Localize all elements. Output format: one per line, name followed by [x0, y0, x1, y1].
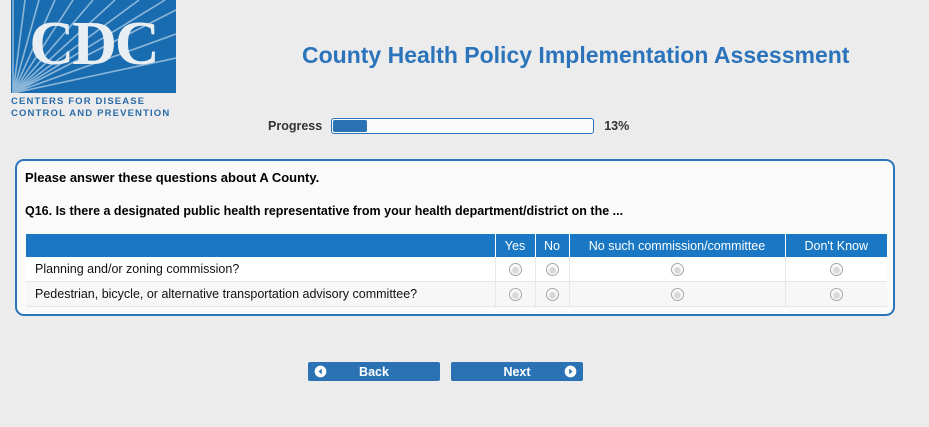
- matrix-cell-no[interactable]: [535, 282, 569, 307]
- question-panel: Please answer these questions about A Co…: [15, 159, 895, 316]
- radio-planning-no[interactable]: [546, 263, 559, 276]
- matrix-cell-yes[interactable]: [495, 282, 535, 307]
- matrix-cell-no-such-commission[interactable]: [569, 257, 785, 282]
- navigation-buttons: Back Next: [308, 362, 583, 381]
- radio-pedestrian-no[interactable]: [546, 288, 559, 301]
- question-prompt: Q16. Is there a designated public health…: [25, 204, 623, 218]
- table-row: Planning and/or zoning commission?: [26, 257, 887, 282]
- cdc-tagline-line-1: CENTERS FOR DISEASE: [11, 96, 176, 108]
- panel-intro-text: Please answer these questions about A Co…: [25, 170, 319, 185]
- matrix-cell-dont-know[interactable]: [785, 282, 887, 307]
- cdc-logo-letters: CDC: [11, 0, 176, 93]
- matrix-header-dont-know: Don't Know: [785, 234, 887, 257]
- radio-planning-dont-know[interactable]: [830, 263, 843, 276]
- progress-percent: 13%: [604, 119, 629, 133]
- matrix-header-no: No: [535, 234, 569, 257]
- cdc-logo: CDC CENTERS FOR DISEASE CONTROL AND PREV…: [11, 0, 176, 120]
- matrix-cell-no[interactable]: [535, 257, 569, 282]
- matrix-cell-dont-know[interactable]: [785, 257, 887, 282]
- matrix-header-no-such-commission: No such commission/committee: [569, 234, 785, 257]
- page-header: CDC CENTERS FOR DISEASE CONTROL AND PREV…: [0, 0, 929, 122]
- page-title: County Health Policy Implementation Asse…: [302, 42, 849, 69]
- matrix-cell-yes[interactable]: [495, 257, 535, 282]
- progress-bar: [331, 118, 594, 134]
- back-button[interactable]: Back: [308, 362, 440, 381]
- matrix-cell-no-such-commission[interactable]: [569, 282, 785, 307]
- arrow-right-circle-icon: [564, 365, 577, 378]
- progress-bar-fill: [333, 120, 367, 132]
- matrix-header-item: [26, 234, 495, 257]
- radio-planning-yes[interactable]: [509, 263, 522, 276]
- radio-pedestrian-none[interactable]: [671, 288, 684, 301]
- cdc-logo-mark: CDC: [11, 0, 176, 93]
- matrix-header-yes: Yes: [495, 234, 535, 257]
- matrix-row-label: Pedestrian, bicycle, or alternative tran…: [26, 282, 495, 307]
- matrix-row-label: Planning and/or zoning commission?: [26, 257, 495, 282]
- next-button[interactable]: Next: [451, 362, 583, 381]
- progress-label: Progress: [268, 119, 322, 133]
- question-matrix-table: Yes No No such commission/committee Don'…: [26, 234, 887, 307]
- arrow-left-circle-icon: [314, 365, 327, 378]
- table-row: Pedestrian, bicycle, or alternative tran…: [26, 282, 887, 307]
- cdc-logo-tagline: CENTERS FOR DISEASE CONTROL AND PREVENTI…: [11, 96, 176, 120]
- back-button-label: Back: [327, 365, 421, 379]
- radio-planning-none[interactable]: [671, 263, 684, 276]
- progress-row: Progress 13%: [268, 118, 629, 134]
- cdc-tagline-line-2: CONTROL AND PREVENTION: [11, 108, 176, 120]
- radio-pedestrian-dont-know[interactable]: [830, 288, 843, 301]
- next-button-label: Next: [470, 365, 564, 379]
- matrix-header-row: Yes No No such commission/committee Don'…: [26, 234, 887, 257]
- radio-pedestrian-yes[interactable]: [509, 288, 522, 301]
